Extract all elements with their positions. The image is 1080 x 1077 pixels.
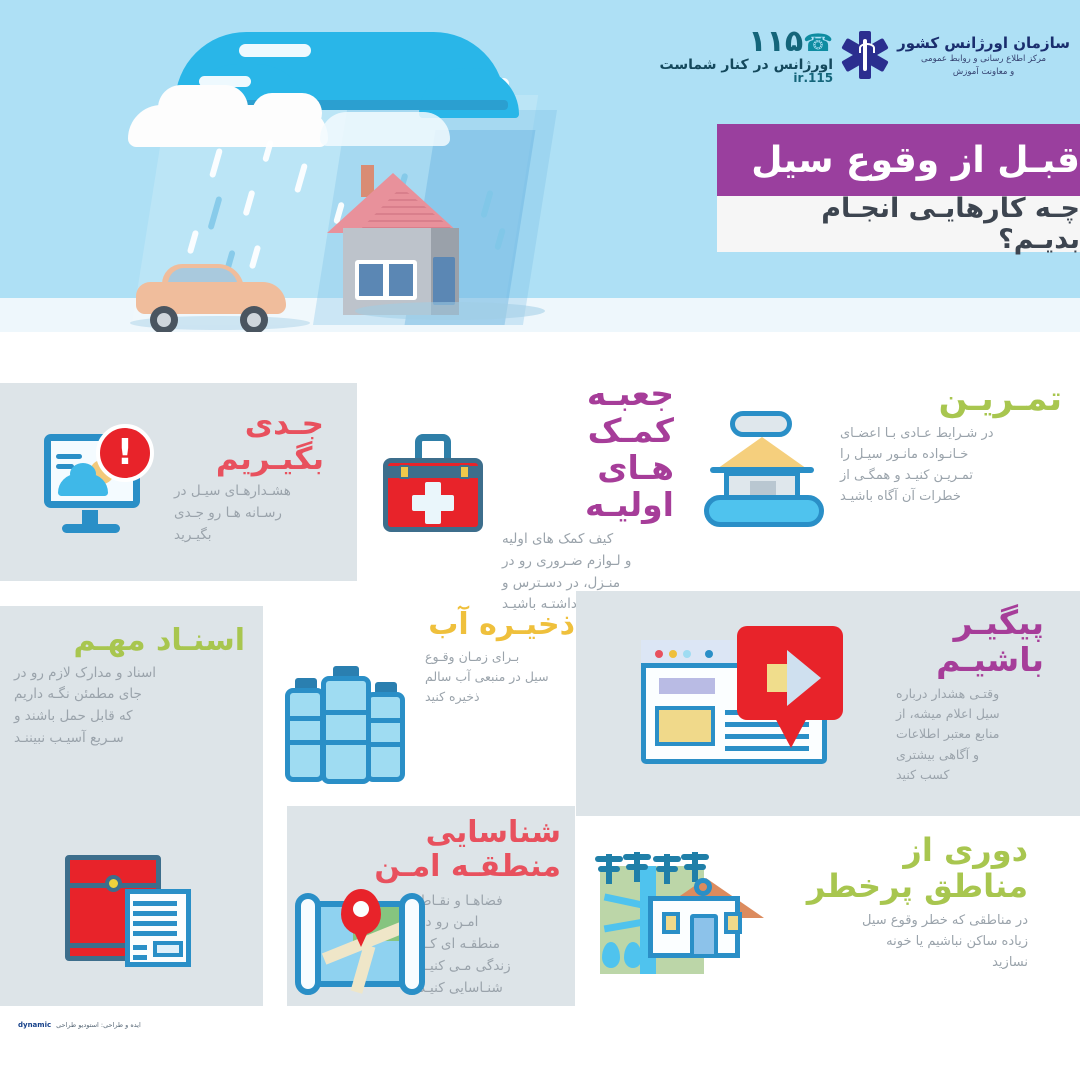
house-window <box>355 260 417 300</box>
logo-slogan: اورژانس در کنار شماست <box>660 58 834 73</box>
card-title: اسنـاد مهـم <box>14 624 245 658</box>
page-subtitle: چـه کارهایـی انجـام بدیـم؟ <box>735 193 1080 255</box>
card-body: فضاهـا و نقـاط امـن رو در منطقـه ای کـه … <box>419 891 547 1000</box>
emergency-number: ۱۱۵ <box>748 24 803 59</box>
card-title: شناسایی منطقـه امـن <box>299 816 561 883</box>
logo-website: 115.ir <box>660 72 834 85</box>
card-important-documents[interactable]: اسنـاد مهـم اسناد و مدارک لازم رو در جای… <box>0 606 263 1006</box>
card-body: وقتـی هشدار درباره سیل اعلام میشه، از من… <box>896 684 1044 785</box>
emergency-number-block: ☎۱۱۵ اورژانس در کنار شماست 115.ir <box>660 26 834 85</box>
org-subtitle-line2: و معاونت آموزش <box>897 66 1070 79</box>
footer-credit-text: ایده و طراحی: استودیو طراحی <box>56 1021 141 1029</box>
first-aid-kit-icon <box>381 434 493 538</box>
card-title: جـدی بگیـریم <box>174 407 324 476</box>
footer-credit: ایده و طراحی: استودیو طراحی dynamic <box>18 1021 141 1029</box>
car-wheel <box>240 306 268 332</box>
studio-logo: dynamic <box>18 1021 51 1029</box>
phone-handset-icon: ☎ <box>803 29 833 57</box>
card-title: جعبـه کمـک هـای اولیـه <box>502 376 674 524</box>
puddle-shadow <box>355 302 545 320</box>
infographic-page: سازمان اورژانس کشور مرکز اطلاع رسانی و ر… <box>0 0 1080 1077</box>
org-subtitle-line1: مرکز اطلاع رسانی و روابط عمومی <box>897 53 1070 66</box>
card-stay-informed[interactable]: پیگیـر باشیـم وقتـی هشدار درباره سیل اعل… <box>576 591 1080 816</box>
header-illustration-area: سازمان اورژانس کشور مرکز اطلاع رسانی و ر… <box>0 0 1080 332</box>
envelope-documents-icon <box>65 851 195 971</box>
monitor-weather-alert-icon: ! <box>38 430 150 534</box>
card-title: ذخیـره آب <box>425 608 575 642</box>
card-body: هشـدارهـای سیـل در رسـانه هـا رو جـدی بگ… <box>174 481 324 547</box>
card-body: اسناد و مدارک لازم رو در جای مطمئن نگـه … <box>14 663 245 750</box>
white-cloud-secondary-icon <box>320 112 450 146</box>
card-practice-drill[interactable]: تمـریـن در شـرایط عـادی بـا اعضـای خـانـ… <box>690 380 1080 570</box>
star-of-life-icon <box>843 33 887 77</box>
white-cloud-icon <box>128 105 328 147</box>
card-body: بـرای زمـان وقـوع سیل در منبعی آب سالم ذ… <box>425 647 575 708</box>
house-door <box>433 257 455 305</box>
card-first-aid-kit[interactable]: جعبـه کمـک هـای اولیـه کیف کمک های اولیه… <box>372 376 682 566</box>
card-take-seriously[interactable]: جـدی بگیـریم هشـدارهـای سیـل در رسـانه ه… <box>0 383 357 581</box>
alert-exclamation-icon: ! <box>96 424 154 482</box>
news-megaphone-alert-icon <box>641 630 851 780</box>
card-water-storage[interactable]: ذخیـره آب بـرای زمـان وقـوع سیل در منبعی… <box>280 608 575 788</box>
water-bottles-icon <box>283 656 423 786</box>
car-illustration <box>136 262 286 324</box>
house-illustration <box>333 165 473 315</box>
car-wheel <box>150 306 178 332</box>
card-identify-safe-zone[interactable]: شناسایی منطقـه امـن فضاهـا و نقـاط امـن … <box>287 806 575 1006</box>
card-body: در مناطقی که خطر وقوع سیل زیاده ساکن نبا… <box>780 910 1028 973</box>
card-avoid-risky-areas[interactable]: دوری از مناطق پرخطر در مناطقی که خطر وقو… <box>590 833 1080 1023</box>
card-body: در شـرایط عـادی بـا اعضـای خـانـواده مان… <box>840 423 1062 507</box>
map-location-pin-icon <box>299 889 419 1001</box>
flooded-house-icon <box>704 411 826 529</box>
card-title: دوری از مناطق پرخطر <box>780 833 1028 905</box>
main-title-banner: قبـل از وقوع سیل <box>717 124 1080 196</box>
card-title: پیگیـر باشیـم <box>896 605 1044 679</box>
card-title: تمـریـن <box>840 380 1062 418</box>
organization-name-block: سازمان اورژانس کشور مرکز اطلاع رسانی و ر… <box>897 33 1070 79</box>
number-row: ☎۱۱۵ <box>660 26 834 58</box>
org-title: سازمان اورژانس کشور <box>897 33 1070 53</box>
page-title: قبـل از وقوع سیل <box>751 140 1080 181</box>
emergency-115-logo: سازمان اورژانس کشور مرکز اطلاع رسانی و ر… <box>660 26 1070 85</box>
river-valley-house-icon <box>600 856 770 996</box>
subtitle-banner: چـه کارهایـی انجـام بدیـم؟ <box>717 196 1080 252</box>
